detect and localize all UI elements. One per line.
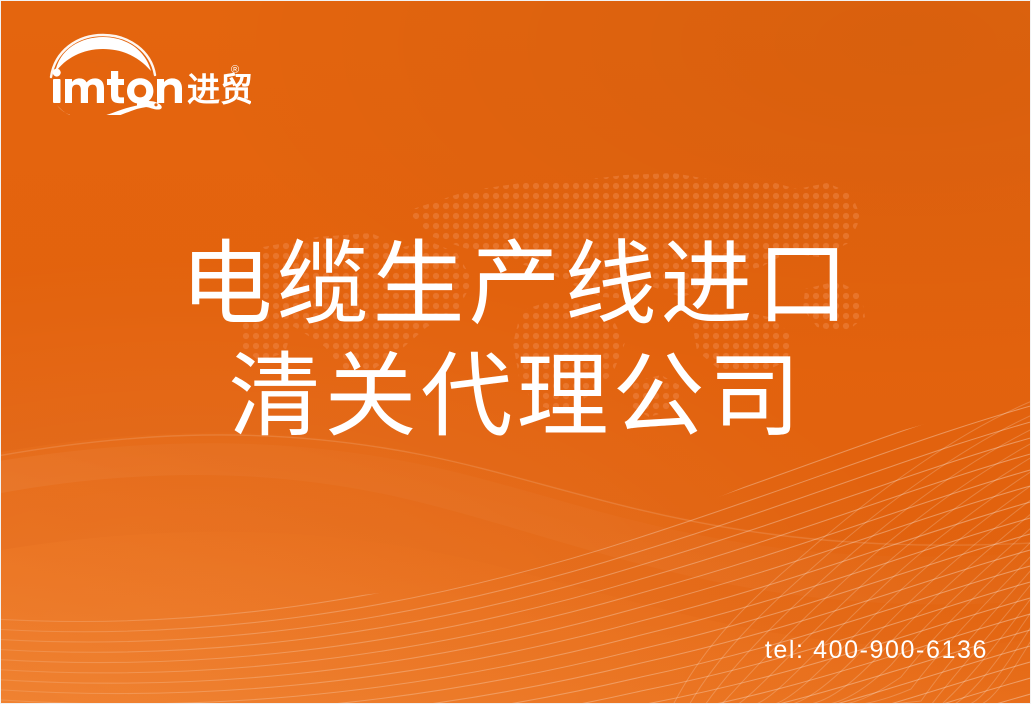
globe-icon xyxy=(51,35,155,77)
logo-trademark-symbol: ® xyxy=(231,64,239,76)
headline-line-1: 电缆生产线进口 xyxy=(1,229,1031,341)
contact-phone[interactable]: tel: 400-900-6136 xyxy=(765,636,988,665)
promotional-banner: 进贸通 ® 电缆生产线进口 清关代理公司 tel: 400-900-6136 xyxy=(0,0,1031,704)
swoosh-icon xyxy=(57,101,162,115)
company-logo[interactable]: 进贸通 ® xyxy=(41,29,251,115)
logo-chinese-name: 进贸通 xyxy=(187,71,251,108)
headline-line-2: 清关代理公司 xyxy=(1,341,1031,453)
page-title: 电缆生产线进口 清关代理公司 xyxy=(1,229,1031,453)
logo-wordmark xyxy=(53,69,182,104)
